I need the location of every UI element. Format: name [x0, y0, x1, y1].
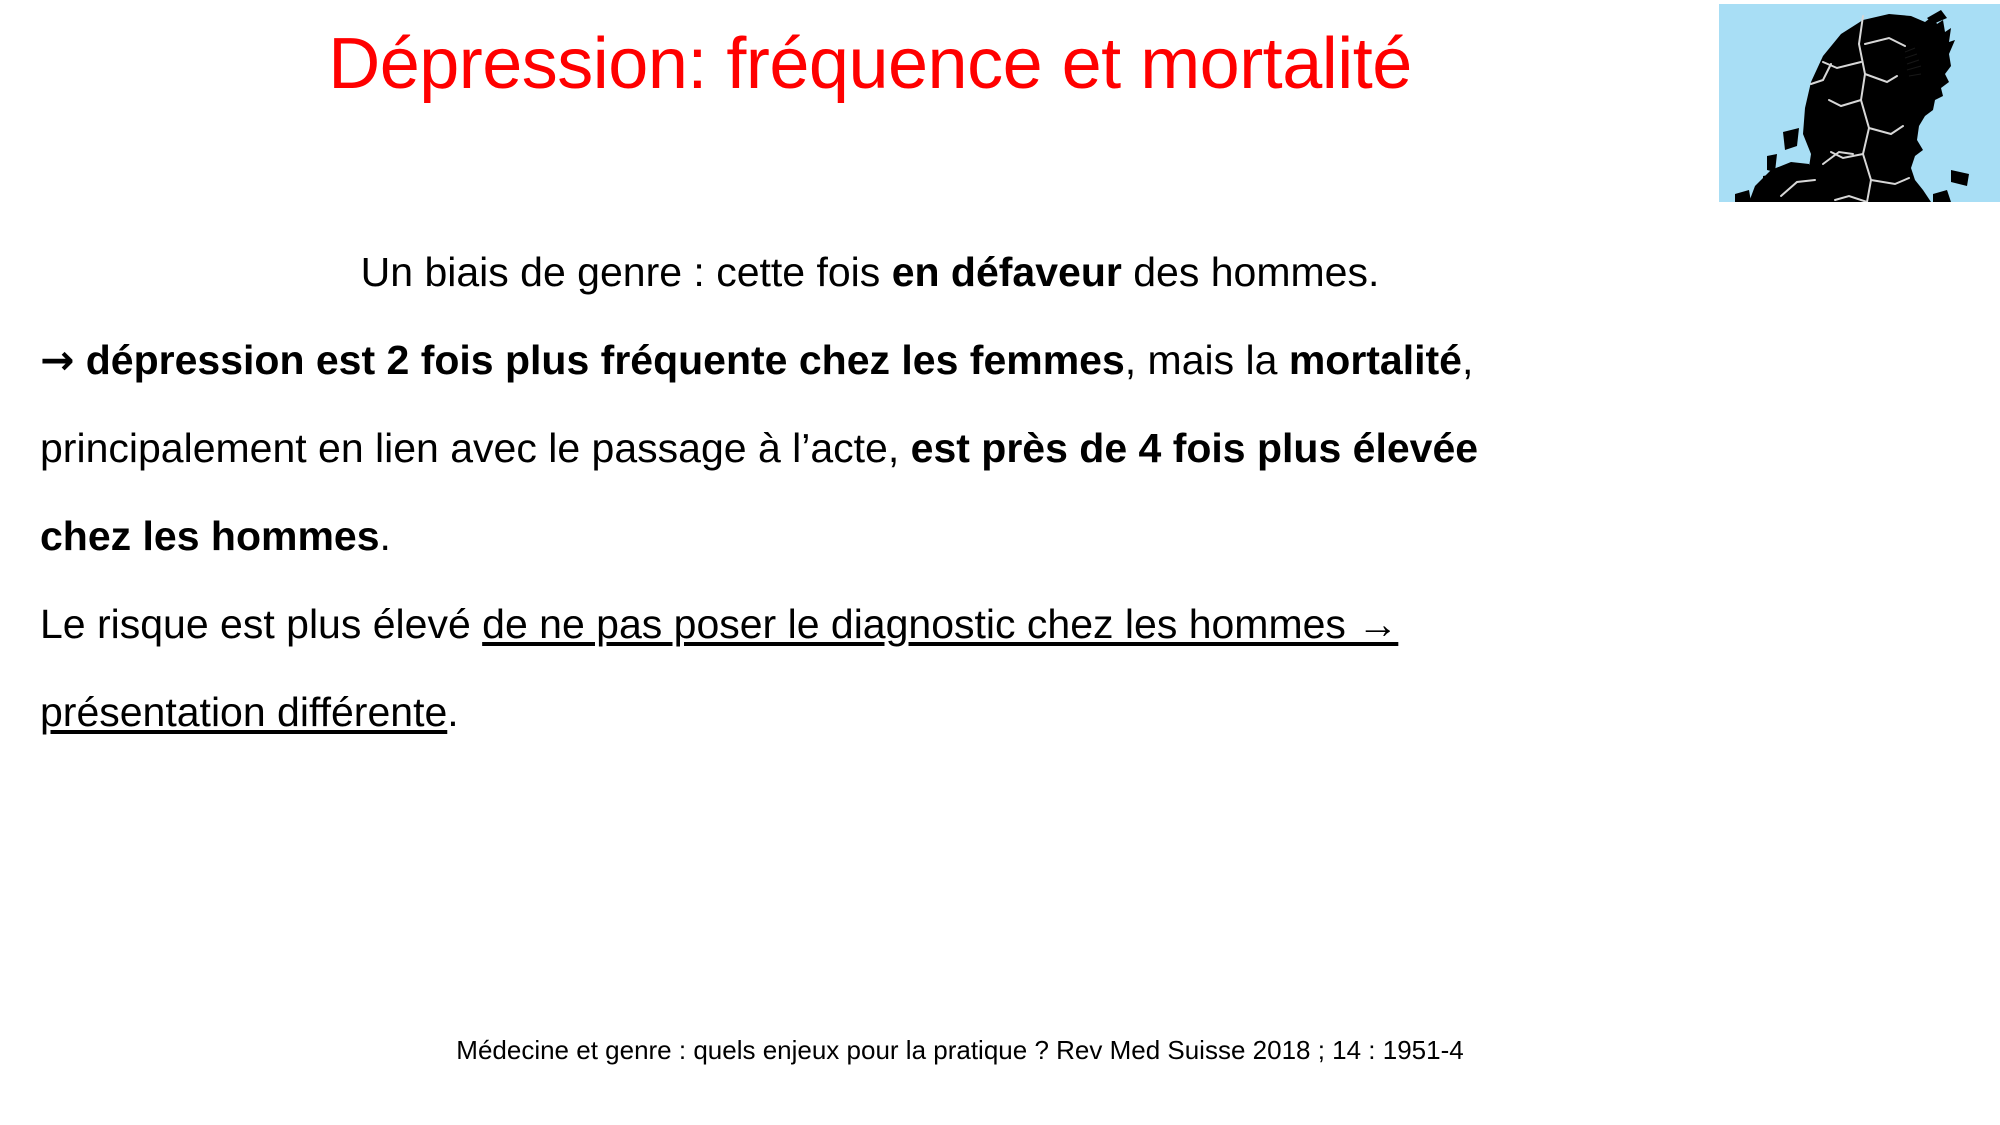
body-line-2-bold-b: mortalité — [1289, 337, 1462, 383]
body-text-block: Un biais de genre : cette fois en défave… — [40, 228, 1900, 756]
right-arrow-icon: → — [40, 336, 74, 384]
body-line-5-text-a: Le risque est plus élevé — [40, 601, 482, 647]
body-line-2-text-a: , mais la — [1125, 337, 1289, 383]
body-line-6: présentation différente. — [40, 668, 1900, 756]
body-line-3-bold-a: est près de 4 fois plus élevée — [911, 425, 1478, 471]
body-line-2: → dépression est 2 fois plus fréquente c… — [40, 316, 1900, 404]
body-line-6-text-a: . — [447, 689, 458, 735]
body-line-5-underlined-a: de ne pas poser le diagnostic chez les h… — [482, 601, 1398, 647]
body-line-4: chez les hommes. — [40, 492, 1900, 580]
slide-canvas: Dépression: fréquence et mortalité — [0, 0, 2000, 1125]
body-line-4-text-a: . — [380, 513, 391, 559]
body-line-1: Un biais de genre : cette fois en défave… — [40, 228, 1900, 316]
body-line-1-text-a: Un biais de genre : cette fois — [361, 249, 892, 295]
body-line-6-underlined-a: présentation différente — [40, 689, 447, 735]
page-title: Dépression: fréquence et mortalité — [0, 26, 1740, 104]
body-line-4-bold-a: chez les hommes — [40, 513, 380, 559]
body-line-5: Le risque est plus élevé de ne pas poser… — [40, 580, 1900, 668]
body-line-1-text-b: des hommes. — [1122, 249, 1380, 295]
cracked-head-profile-image — [1719, 4, 2000, 202]
body-line-2-text-b: , — [1462, 337, 1473, 383]
body-line-3: principalement en lien avec le passage à… — [40, 404, 1900, 492]
body-line-1-bold-a: en défaveur — [892, 249, 1122, 295]
body-line-2-bold-a: dépression est 2 fois plus fréquente che… — [74, 337, 1124, 383]
body-line-3-text-a: principalement en lien avec le passage à… — [40, 425, 911, 471]
citation-source: Médecine et genre : quels enjeux pour la… — [0, 1035, 1920, 1066]
